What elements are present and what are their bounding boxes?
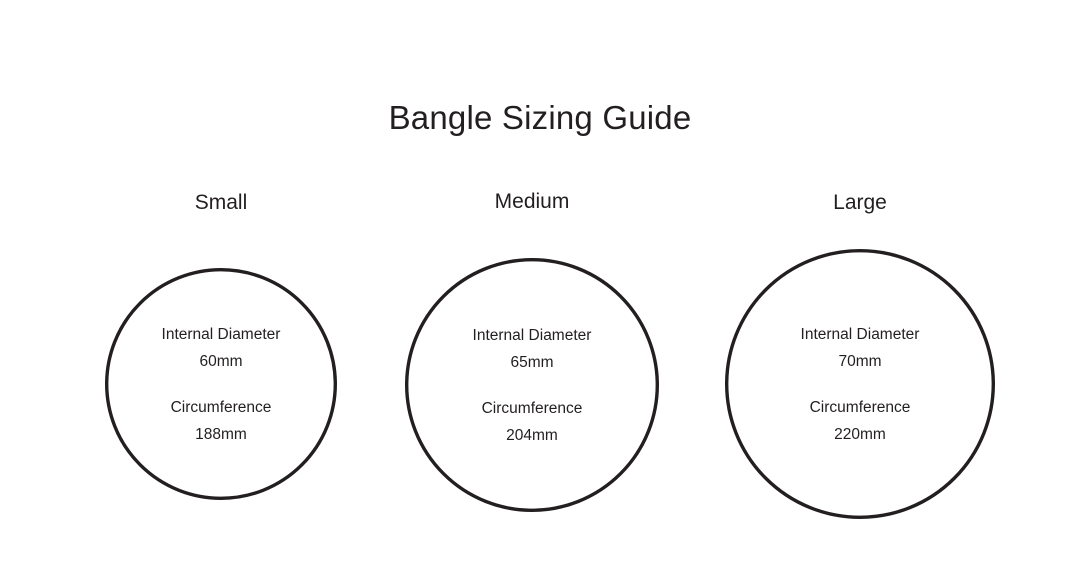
bangle-circle-large: Internal Diameter 70mm Circumference 220… xyxy=(725,249,995,519)
circumference-block-small: Circumference 188mm xyxy=(105,394,337,448)
sizing-guide-canvas: Bangle Sizing Guide Small Internal Diame… xyxy=(0,0,1080,561)
size-label-small: Small xyxy=(105,189,337,217)
internal-diameter-block-large: Internal Diameter 70mm xyxy=(725,321,995,375)
circumference-label-small: Circumference xyxy=(105,394,337,421)
circumference-label-medium: Circumference xyxy=(405,395,659,422)
circumference-value-small: 188mm xyxy=(105,421,337,448)
internal-diameter-value-medium: 65mm xyxy=(405,349,659,376)
circle-specs-small: Internal Diameter 60mm Circumference 188… xyxy=(105,268,337,500)
internal-diameter-value-large: 70mm xyxy=(725,348,995,375)
bangle-circle-small: Internal Diameter 60mm Circumference 188… xyxy=(105,268,337,500)
internal-diameter-value-small: 60mm xyxy=(105,348,337,375)
circumference-block-large: Circumference 220mm xyxy=(725,394,995,448)
bangle-circle-medium: Internal Diameter 65mm Circumference 204… xyxy=(405,258,659,512)
circumference-value-medium: 204mm xyxy=(405,422,659,449)
size-label-medium: Medium xyxy=(405,188,659,216)
internal-diameter-block-medium: Internal Diameter 65mm xyxy=(405,322,659,376)
internal-diameter-block-small: Internal Diameter 60mm xyxy=(105,321,337,375)
circumference-block-medium: Circumference 204mm xyxy=(405,395,659,449)
size-group-large: Large Internal Diameter 70mm Circumferen… xyxy=(725,0,995,561)
internal-diameter-label-large: Internal Diameter xyxy=(725,321,995,348)
circle-specs-medium: Internal Diameter 65mm Circumference 204… xyxy=(405,258,659,512)
circumference-value-large: 220mm xyxy=(725,421,995,448)
size-label-large: Large xyxy=(725,189,995,217)
internal-diameter-label-medium: Internal Diameter xyxy=(405,322,659,349)
internal-diameter-label-small: Internal Diameter xyxy=(105,321,337,348)
size-group-small: Small Internal Diameter 60mm Circumferen… xyxy=(105,0,337,561)
circumference-label-large: Circumference xyxy=(725,394,995,421)
circle-specs-large: Internal Diameter 70mm Circumference 220… xyxy=(725,249,995,519)
size-group-medium: Medium Internal Diameter 65mm Circumfere… xyxy=(405,0,659,561)
